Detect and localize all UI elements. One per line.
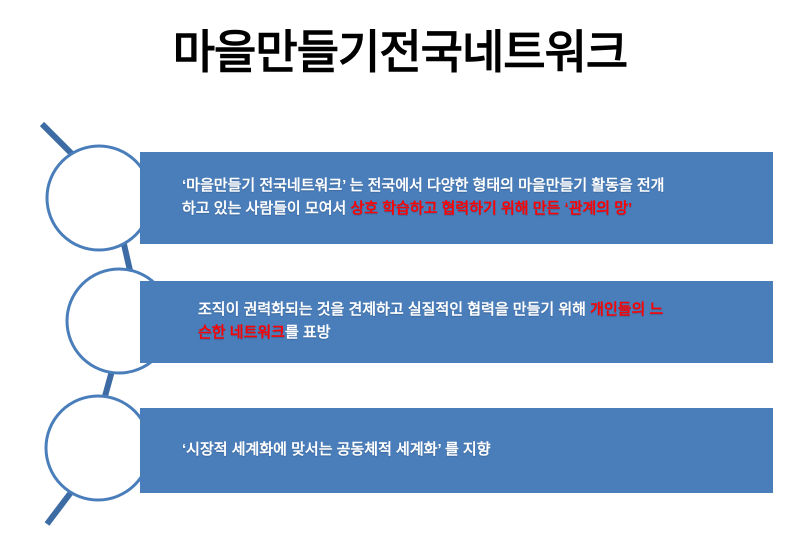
node-circle-1 <box>47 146 151 250</box>
content-bar-2: 조직이 권력화되는 것을 견제하고 실질적인 협력을 만들기 위해 개인들의 느… <box>140 281 773 363</box>
connector-line-top <box>42 124 78 160</box>
body-text: ‘마을만들기 전국네트워크’ 는 전국에서 다양한 형태의 마을만들기 활동을 … <box>182 177 664 194</box>
body-text: 를 표방 <box>285 324 331 341</box>
content-bar-1-text: ‘마을만들기 전국네트워크’ 는 전국에서 다양한 형태의 마을만들기 활동을 … <box>140 175 773 221</box>
highlight-text: 개인들의 느 <box>590 301 663 318</box>
highlight-text: 슨한 네트워크 <box>198 324 285 341</box>
connector-line-2-3 <box>104 367 113 400</box>
body-text: ‘시장적 세계화에 맞서는 공동체적 세계화’ 를 지향 <box>182 441 491 458</box>
content-bar-3-text: ‘시장적 세계화에 맞서는 공동체적 세계화’ 를 지향 <box>140 439 773 462</box>
page-title: 마을만들기전국네트워크 <box>0 26 800 79</box>
content-bar-1: ‘마을만들기 전국네트워크’ 는 전국에서 다양한 형태의 마을만들기 활동을 … <box>140 152 773 244</box>
body-text: 조직이 권력화되는 것을 견제하고 실질적인 협력을 만들기 위해 <box>198 301 590 318</box>
slide-canvas: 마을만들기전국네트워크 ‘마을만들기 전국네트워크’ 는 전국에서 다양한 형태… <box>0 0 800 554</box>
content-bar-2-text: 조직이 권력화되는 것을 견제하고 실질적인 협력을 만들기 위해 개인들의 느… <box>140 299 773 345</box>
connector-line-1-2 <box>123 240 131 275</box>
content-bar-3: ‘시장적 세계화에 맞서는 공동체적 세계화’ 를 지향 <box>140 408 773 493</box>
body-text: 하고 있는 사람들이 모여서 <box>182 200 350 217</box>
connector-line-bottom <box>47 487 75 524</box>
highlight-text: 상호 학습하고 협력하기 위해 만든 ‘관계의 망’ <box>350 200 632 217</box>
node-circle-3 <box>46 396 150 500</box>
